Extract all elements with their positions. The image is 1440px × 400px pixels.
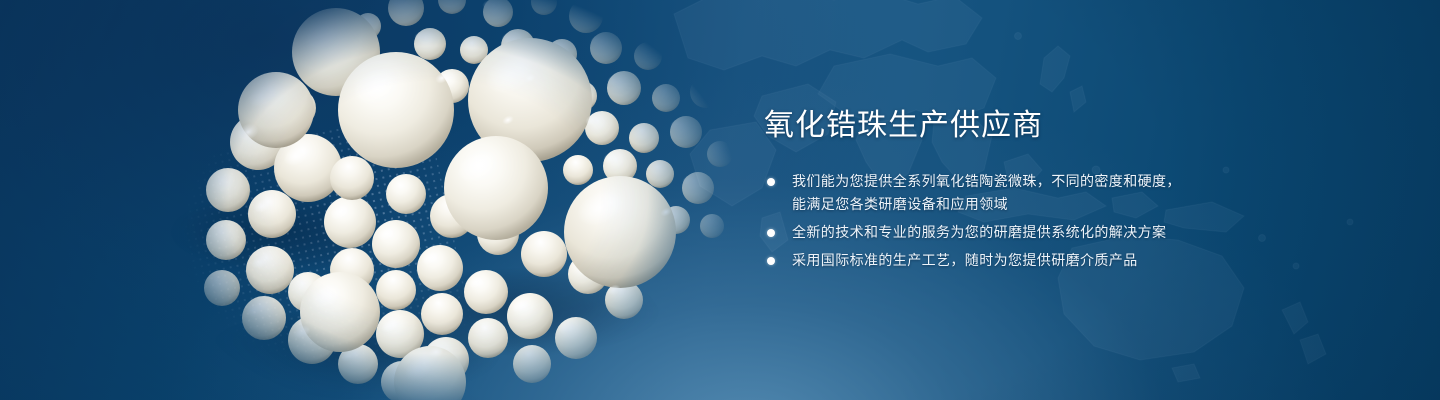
list-item: 全新的技术和专业的服务为您的研磨提供系统化的解决方案 — [764, 221, 1324, 244]
list-item-line-1: 全新的技术和专业的服务为您的研磨提供系统化的解决方案 — [792, 224, 1166, 240]
list-item-line-1: 采用国际标准的生产工艺，随时为您提供研磨介质产品 — [792, 252, 1138, 268]
feature-list: 我们能为您提供全系列氧化锆陶瓷微珠，不同的密度和硬度， 能满足您各类研磨设备和应… — [764, 170, 1324, 272]
list-item-line-2: 能满足您各类研磨设备和应用领域 — [792, 193, 1324, 216]
hero-banner: 氧化锆珠生产供应商 我们能为您提供全系列氧化锆陶瓷微珠，不同的密度和硬度， 能满… — [0, 0, 1440, 400]
list-item: 我们能为您提供全系列氧化锆陶瓷微珠，不同的密度和硬度， 能满足您各类研磨设备和应… — [764, 170, 1324, 216]
bullet-dot-icon — [767, 257, 775, 265]
bullet-dot-icon — [767, 229, 775, 237]
list-item-line-1: 我们能为您提供全系列氧化锆陶瓷微珠，不同的密度和硬度， — [792, 173, 1181, 189]
list-item: 采用国际标准的生产工艺，随时为您提供研磨介质产品 — [764, 249, 1324, 272]
page-title: 氧化锆珠生产供应商 — [764, 108, 1324, 144]
bullet-dot-icon — [767, 178, 775, 186]
banner-copy: 氧化锆珠生产供应商 我们能为您提供全系列氧化锆陶瓷微珠，不同的密度和硬度， 能满… — [764, 108, 1324, 272]
